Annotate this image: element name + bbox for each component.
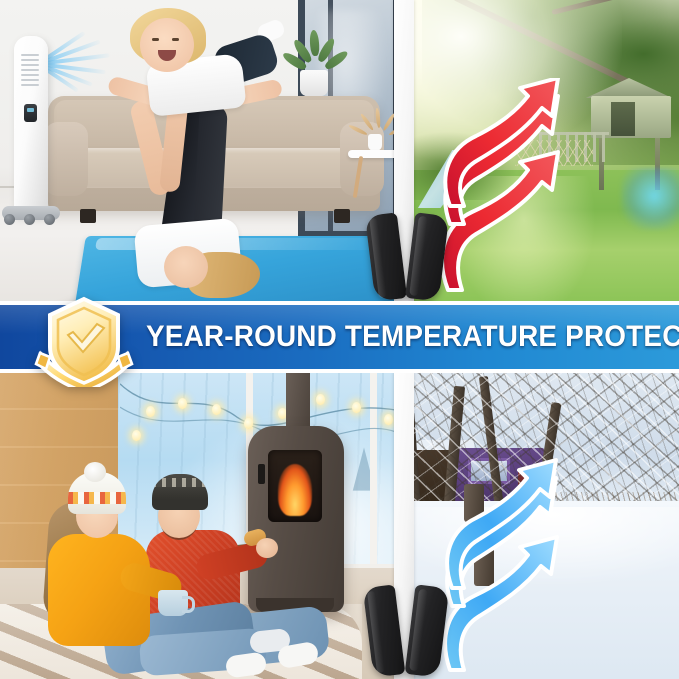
cooler-vent-grille [21,54,39,86]
quadrant-indoor-winter-warmth [0,372,402,679]
child-eye-right [172,38,179,41]
cooler-caster-wheel [24,214,35,225]
man-knit-beanie [152,474,208,510]
child-head [140,18,194,72]
small-vase [368,134,382,151]
sofa-leg-right [334,209,350,223]
mother-head [164,246,208,288]
quadrant-indoor-summer-cooling [0,0,402,303]
plant-pot [300,70,328,96]
stove-door-handle[interactable] [258,464,265,484]
cooler-caster-wheel [4,214,15,225]
headline-text: YEAR-ROUND TEMPERATURE PROTECTION [146,322,679,352]
light-bulb [384,414,393,425]
cooler-control-panel[interactable] [24,104,37,122]
fire-flame [278,464,312,516]
cooler-caster-wheel [44,214,55,225]
light-bulb [316,394,325,405]
sun-flare [402,0,622,160]
sofa-leg-left [80,209,96,223]
child-eye-left [152,38,159,41]
product-infographic-poster: YEAR-ROUND TEMPERATURE PROTECTION [0,0,679,679]
sofa-arm-left [44,122,88,196]
light-bulb [178,398,187,409]
shield-check-icon [34,295,134,387]
mug [158,590,188,616]
man-hand [256,538,278,558]
light-bulb [212,404,221,415]
tree-stump [464,484,484,522]
tree-stump [474,548,494,586]
snow-drift [402,507,679,587]
light-bulb [352,402,361,413]
tower-air-cooler [14,36,48,216]
light-bulb [132,430,141,441]
light-bulb [146,406,155,417]
light-bulb [244,418,253,429]
lens-flare-bokeh [621,168,679,230]
beanie-pom-pom [84,462,106,482]
stove-flue-pipe [286,372,310,430]
